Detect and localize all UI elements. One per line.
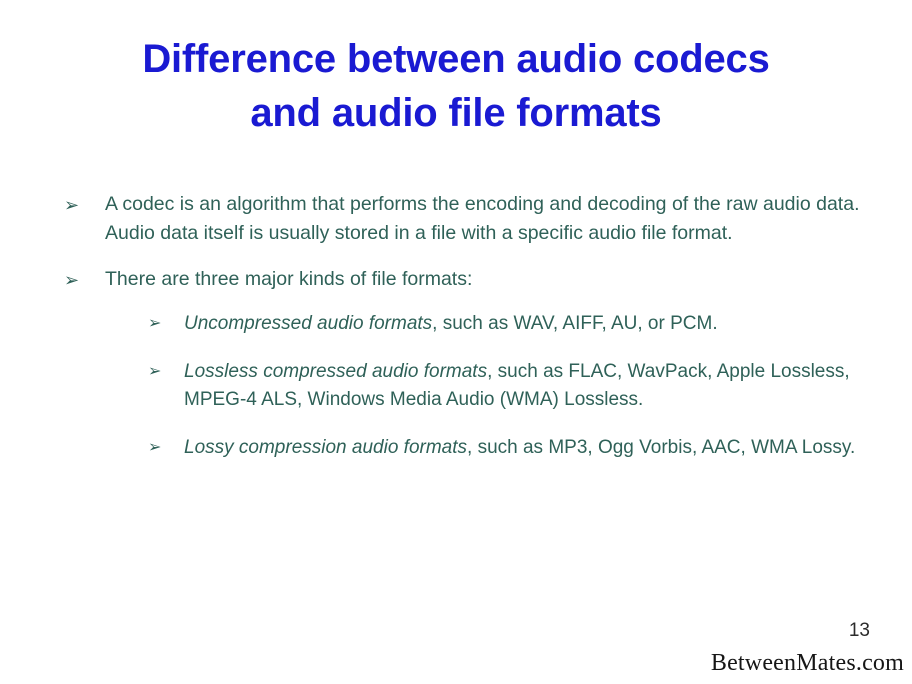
arrow-bullet-icon: ➢ bbox=[148, 310, 161, 338]
arrow-bullet-icon: ➢ bbox=[64, 266, 79, 295]
list-item-text: , such as WAV, AIFF, AU, or PCM. bbox=[432, 313, 717, 334]
slide-canvas: Difference between audio codecs and audi… bbox=[0, 0, 912, 684]
arrow-bullet-icon: ➢ bbox=[148, 358, 161, 386]
watermark-brand: BetweenMates.com bbox=[711, 650, 904, 677]
list-item-emphasis: Uncompressed audio formats bbox=[184, 313, 432, 334]
list-item-emphasis: Lossy compression audio formats bbox=[184, 437, 467, 458]
page-number: 13 bbox=[849, 620, 870, 642]
list-item: ➢ Lossless compressed audio formats, suc… bbox=[146, 358, 862, 414]
list-item-text: There are three major kinds of file form… bbox=[105, 265, 862, 294]
page-title-line-2: and audio file formats bbox=[0, 86, 912, 140]
list-item: ➢ Uncompressed audio formats, such as WA… bbox=[146, 310, 862, 338]
page-title-line-1: Difference between audio codecs bbox=[0, 32, 912, 86]
list-item: ➢ There are three major kinds of file fo… bbox=[62, 265, 862, 462]
arrow-bullet-icon: ➢ bbox=[64, 191, 79, 220]
list-item: ➢ A codec is an algorithm that performs … bbox=[62, 190, 862, 248]
list-item-text: A codec is an algorithm that performs th… bbox=[105, 190, 862, 248]
list-item-text: , such as MP3, Ogg Vorbis, AAC, WMA Loss… bbox=[467, 437, 855, 458]
arrow-bullet-icon: ➢ bbox=[148, 434, 161, 462]
sub-list: ➢ Uncompressed audio formats, such as WA… bbox=[105, 310, 862, 462]
page-title: Difference between audio codecs and audi… bbox=[0, 32, 912, 140]
slide-body: ➢ A codec is an algorithm that performs … bbox=[62, 190, 862, 479]
list-item-emphasis: Lossless compressed audio formats bbox=[184, 361, 487, 382]
list-item: ➢ Lossy compression audio formats, such … bbox=[146, 434, 862, 462]
